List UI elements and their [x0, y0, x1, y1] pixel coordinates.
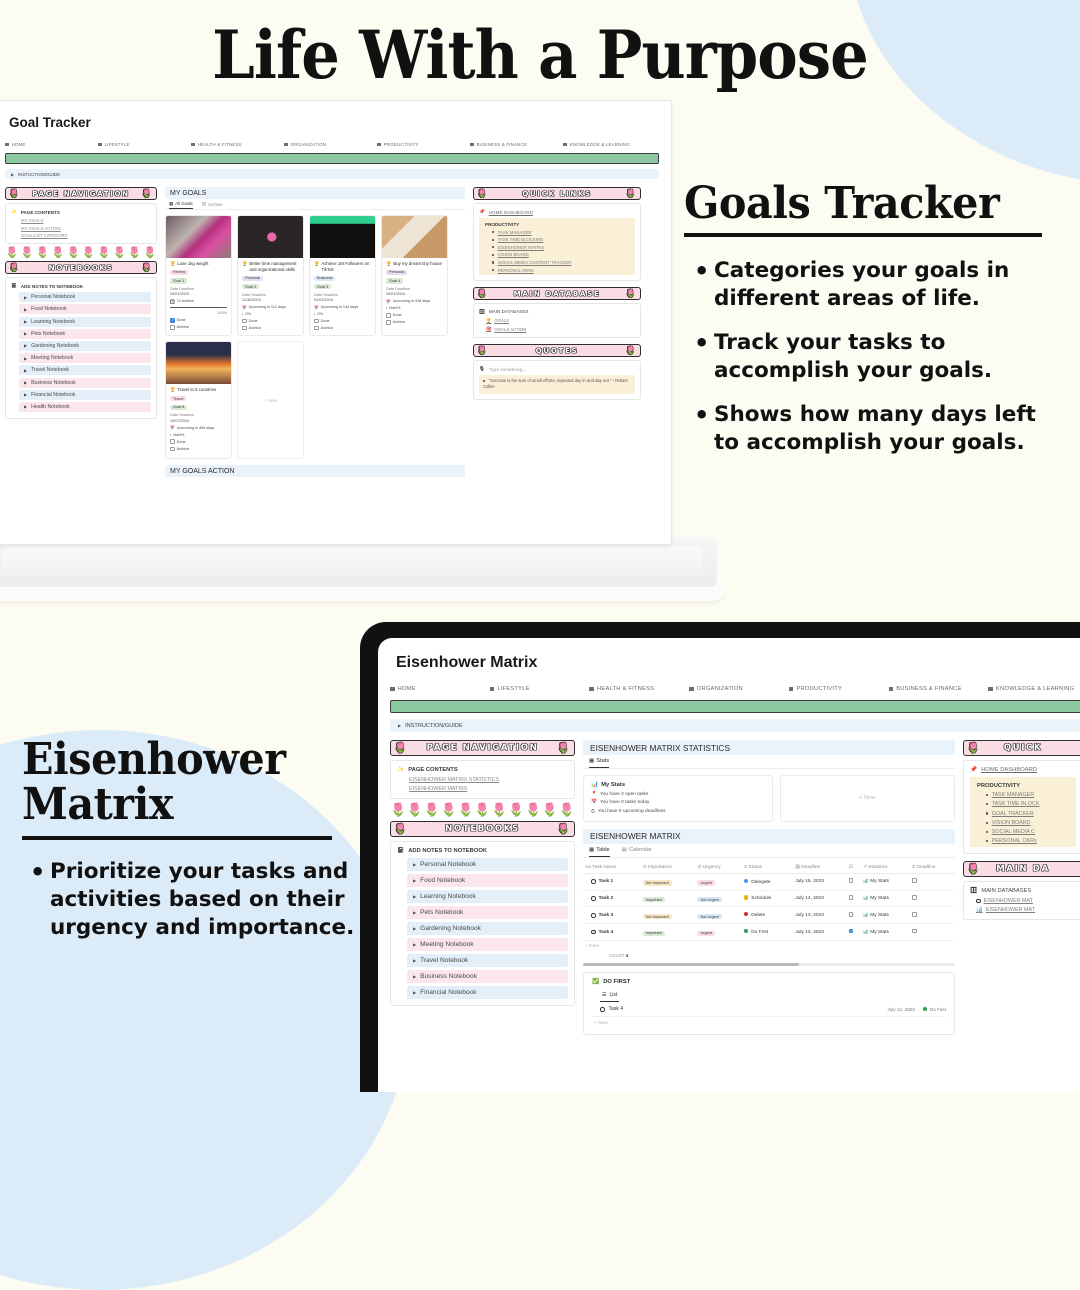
top-navigation[interactable]: HOME LIFESTYLE HEALTH & FITNESS ORGANIZA… [5, 142, 659, 147]
main-db-link-matrix-stats[interactable]: 📊EISENHOWER MAT [976, 907, 1076, 913]
page-title: Life With a Purpose [43, 16, 1037, 94]
col-deadline-2[interactable]: Σ Deadline [910, 862, 955, 874]
banner-label: QUICK LINKS [522, 189, 592, 198]
tablet-mockup: Eisenhower Matrix HOME LIFESTYLE HEALTH … [360, 622, 1080, 1092]
goal-archive-row[interactable]: Archive [170, 325, 227, 330]
col-checkbox[interactable]: ☑ [847, 862, 861, 874]
goal-done-row[interactable]: Done [170, 439, 227, 444]
task-ring-icon [600, 1007, 605, 1012]
check-circle-icon: ✅ [592, 979, 599, 985]
notebook-label: Meeting Notebook [31, 355, 73, 361]
col-status[interactable]: Σ Status [742, 862, 793, 874]
goal-category-tag: Personal [386, 270, 407, 275]
goal-countdown: Upcoming in 144 days [321, 305, 359, 309]
goals-pitch-bullet: Shows how many days left to accomplish y… [714, 401, 1062, 456]
archive-label: Archive [321, 326, 334, 330]
my-goals-section-title: MY GOALS [165, 187, 465, 199]
nav-item-home[interactable]: HOME [5, 142, 98, 147]
checkbox-cell[interactable] [847, 924, 861, 941]
notebook-item-food[interactable]: ▶Food Notebook [19, 304, 151, 314]
tab-table[interactable]: ▦Table [589, 844, 610, 857]
do-first-title: DO FIRST [603, 979, 630, 985]
nav-item-productivity[interactable]: PRODUCTIVITY [377, 142, 470, 147]
archive-label: Archive [177, 325, 190, 329]
quick-link-task-manager[interactable]: TASK MANAGER [492, 230, 631, 235]
goal-image-remote-control [310, 216, 375, 258]
main-db-link-goals[interactable]: 🏆GOALS [486, 318, 635, 324]
done-label: Done [321, 319, 330, 323]
nav-label: HOME [398, 686, 416, 692]
sparkle-icon: ✨ [397, 767, 404, 773]
deadline2-cell[interactable] [910, 873, 955, 890]
my-stats-label: My Stats [601, 782, 625, 788]
table-row[interactable]: Task 2 Important Not Urgent Schedule Jul… [583, 890, 955, 907]
goal-done-row[interactable]: Done [242, 319, 299, 324]
main-database-banner: 🌷 MAIN DATABASE 🌷 [473, 287, 641, 300]
banner-label: MAIN DATABASE [514, 289, 601, 298]
quick-link-personal-okrs[interactable]: PERSONAL OKRs [986, 838, 1071, 844]
goal-progress-label: NaN% [389, 306, 400, 310]
main-database-card: 🗄 MAIN DATABASES EISENHOWER MAT 📊EISENHO… [963, 881, 1080, 920]
new-stat-card-button[interactable]: + New [780, 775, 956, 822]
checkbox-cell[interactable] [847, 890, 861, 907]
done-label: Done [393, 313, 402, 317]
goal-progress-label: 0% [317, 312, 323, 316]
nav-label: BUSINESS & FINANCE [477, 142, 527, 147]
notebook-item-gardening[interactable]: ▶Gardening Notebook [19, 341, 151, 351]
archive-checkbox[interactable] [242, 326, 247, 331]
count-value: 4 [626, 953, 628, 958]
goal-archive-row[interactable]: Archive [242, 326, 299, 331]
importance-cell: Not Important [641, 873, 696, 890]
row-checkbox-2[interactable] [912, 895, 917, 900]
chevron-right-icon: ▶ [11, 172, 14, 177]
laptop-keyboard [2, 547, 702, 577]
statistics-cell[interactable]: 📊 My Stats [861, 873, 910, 890]
bar-chart-icon: 📊 [863, 913, 869, 918]
col-urgency[interactable]: ⊙ Urgency [695, 862, 742, 874]
archive-label: Archive [177, 447, 190, 451]
main-db-label: GOALS ACTION [494, 327, 526, 332]
page-contents-label: PAGE CONTENTS [408, 767, 458, 773]
notebook-item-meeting[interactable]: ▶Meeting Notebook [19, 353, 151, 363]
count-label: COUNT [609, 953, 625, 958]
task-name-cell: Task 3 [585, 913, 639, 918]
microphone-icon: 🎙 [479, 366, 485, 372]
nav-item-knowledge-learning[interactable]: KNOWLEDGE & LEARNING [988, 686, 1080, 692]
bar-chart-icon: 📊 [976, 907, 983, 913]
home-dashboard-row[interactable]: 📌 HOME DASHBOARD [479, 209, 635, 215]
notebooks-header-label: ADD NOTES TO NOTEBOOK [21, 284, 83, 289]
notebook-item-personal[interactable]: ▶Personal Notebook [19, 292, 151, 302]
notebook-item-pets[interactable]: ▶Pets Notebook [407, 906, 568, 919]
bullet-icon: • [242, 312, 243, 316]
laptop-mockup: Goal Tracker HOME LIFESTYLE HEALTH & FIT… [0, 100, 737, 660]
page-content-link-matrix[interactable]: EISENHOWER MATRIX [409, 786, 568, 792]
importance-cell: Important [641, 924, 696, 941]
goal-countdown-row: 📅Upcoming in 418 days [386, 299, 443, 304]
done-checkbox[interactable] [386, 313, 391, 318]
notebook-label: Personal Notebook [420, 861, 476, 868]
urgency-cell: Urgent [695, 924, 742, 941]
pin-icon: 📌 [970, 767, 977, 773]
bullet-icon: • [314, 312, 315, 316]
deadline2-cell[interactable] [910, 890, 955, 907]
main-db-label: EISENHOWER MAT [986, 907, 1035, 913]
col-deadline[interactable]: ▤ Deadline [793, 862, 846, 874]
goal-progress-label: 100% [170, 311, 227, 315]
row-checkbox-2[interactable] [912, 929, 917, 934]
home-dashboard-row[interactable]: 📌 HOME DASHBOARD [970, 767, 1076, 773]
nav-item-organization[interactable]: ORGANIZATION [284, 142, 377, 147]
nav-square-icon [5, 143, 9, 147]
deadline2-cell[interactable] [910, 907, 955, 924]
goal-done-row[interactable]: Done [386, 313, 443, 318]
quick-link-vision-board[interactable]: VISION BOARD [986, 820, 1071, 826]
quick-link-label: VISION BOARD [498, 252, 529, 257]
clock-icon: ⏱ [591, 809, 595, 815]
nav-item-knowledge-learning[interactable]: KNOWLEDGE & LEARNING [563, 142, 656, 147]
nav-item-business-finance[interactable]: BUSINESS & FINANCE [889, 686, 989, 692]
quick-link-label: VISION BOARD [992, 820, 1031, 826]
main-db-label: EISENHOWER MAT [984, 898, 1033, 904]
col-statistics[interactable]: ↗ Statistics [861, 862, 910, 874]
target-icon: 🎯 [486, 326, 491, 332]
notebook-item-food[interactable]: ▶Food Notebook [407, 874, 568, 887]
table-row[interactable]: Task 3 Not Important Not Urgent Delete J… [583, 907, 955, 924]
quote-input-row[interactable]: 🎙 Type something... [479, 366, 635, 372]
tulip-icon: 🌷 [141, 263, 153, 272]
nav-item-health-fitness[interactable]: HEALTH & FITNESS [589, 686, 689, 692]
deadline-cell: July 13, 2023 [793, 907, 846, 924]
chevron-right-icon: ▶ [413, 990, 416, 995]
bar-chart-icon: 📊 [863, 879, 869, 884]
page-content-link-my-goals[interactable]: MY GOALS [21, 218, 151, 223]
col-importance[interactable]: ⊙ Importance [641, 862, 696, 874]
row-count: COUNT 4 [583, 953, 955, 958]
notebook-label: Gardening Notebook [31, 343, 79, 349]
my-stats-card[interactable]: 📊My Stats 📍You have 2 open tasks 📅You ha… [583, 775, 773, 822]
page-contents-header: ✨ PAGE CONTENTS [11, 209, 151, 215]
nav-label: KNOWLEDGE & LEARNING [570, 142, 630, 147]
statistics-cell[interactable]: 📊 My Stats [861, 890, 910, 907]
stats-cards: 📊My Stats 📍You have 2 open tasks 📅You ha… [583, 775, 955, 822]
goal-card[interactable]: 🏆Lose 1kg weight Fitness Goal 1 Date Dea… [165, 215, 232, 336]
checkbox-cell[interactable] [847, 873, 861, 890]
notebooks-banner: 🌷 NOTEBOOKS 🌷 [5, 261, 157, 274]
quick-link-personal-okrs[interactable]: PERSONAL OKRs [492, 268, 631, 273]
quick-link-eisenhower-matrix[interactable]: EISENHOWER MATRIX [492, 245, 631, 250]
quick-link-label: PERSONAL OKRs [498, 268, 534, 273]
goal-card[interactable]: 🏆Buy my dream tiny house Personal Goal 4… [381, 215, 448, 336]
instruction-guide-toggle[interactable]: ▶ INSTUCTION/GUIDE [5, 169, 659, 179]
top-navigation[interactable]: HOME LIFESTYLE HEALTH & FITNESS ORGANIZA… [390, 686, 1080, 692]
goal-number-tag: Goal 3 [314, 284, 331, 289]
row-checkbox-2[interactable] [912, 878, 917, 883]
nav-label: HEALTH & FITNESS [597, 686, 654, 692]
done-checkbox[interactable] [170, 318, 175, 323]
bullet-square-icon [492, 239, 494, 241]
chevron-right-icon: ▶ [413, 926, 416, 931]
tulip-icon: 🌷 [477, 346, 489, 355]
notebook-item-meeting[interactable]: ▶Meeting Notebook [407, 938, 568, 951]
notebook-item-gardening[interactable]: ▶Gardening Notebook [407, 922, 568, 935]
goal-countdown-row: 📅Upcoming in 465 days [170, 425, 227, 430]
quick-links-category: PRODUCTIVITY [485, 222, 631, 227]
stat-open-tasks: 📍You have 2 open tasks [591, 792, 765, 797]
do-first-task-name: Task 4 [609, 1006, 623, 1012]
eisen-pitch-heading-line2: Matrix [22, 783, 346, 828]
tulip-icon: 🌷 [9, 189, 21, 198]
quick-link-task-manager[interactable]: TASK MANAGER [986, 792, 1071, 798]
deadline-value: 12/07/2024 [170, 419, 227, 423]
quick-link-goal-tracker[interactable]: GOAL TRACKER [986, 811, 1071, 817]
quick-link-label: EISENHOWER MATRIX [498, 245, 544, 250]
page-contents-header: ✨ PAGE CONTENTS [397, 767, 568, 773]
new-goal-card-button[interactable]: + New [237, 341, 304, 459]
laptop-foot [0, 587, 726, 601]
tab-all-goals[interactable]: ▦All Goals [169, 199, 193, 209]
archive-checkbox[interactable] [170, 325, 175, 330]
tulip-icon: 🌷 [625, 346, 637, 355]
tulip-icon: 🌷 [394, 824, 408, 835]
notebook-item-health[interactable]: ▶Health Notebook [19, 402, 151, 412]
new-row-button[interactable]: + New [583, 941, 955, 952]
notebook-item-pets[interactable]: ▶Pets Notebook [19, 329, 151, 339]
instruction-guide-toggle[interactable]: ▶ INSTRUCTION/GUIDE [390, 719, 1080, 732]
page-content-link-goals-by-category[interactable]: GOALS BY CATEGORY [21, 233, 151, 238]
task-ring-icon [591, 896, 596, 901]
row-checkbox[interactable] [849, 929, 854, 934]
notebook-item-travel[interactable]: ▶Travel Notebook [407, 954, 568, 967]
goals-gallery: 🏆Lose 1kg weight Fitness Goal 1 Date Dea… [165, 215, 465, 459]
goal-card[interactable]: 🏆Travel to 5 countries Travel Goal 5 Dat… [165, 341, 232, 459]
nav-square-icon [191, 143, 195, 147]
nav-label: PRODUCTIVITY [796, 686, 842, 692]
tab-list[interactable]: ☰ List [600, 989, 619, 1002]
nav-item-business-finance[interactable]: BUSINESS & FINANCE [470, 142, 563, 147]
chevron-right-icon: ▶ [398, 723, 401, 728]
matrix-section-title: EISENHOWER MATRIX [583, 829, 955, 844]
tab-archive[interactable]: ▤Archive [202, 201, 223, 207]
do-first-deadline: July 12, 2023 [887, 1007, 914, 1012]
tab-label: List [609, 992, 617, 998]
chevron-right-icon: ▶ [413, 958, 416, 963]
chevron-right-icon: ▶ [413, 910, 416, 915]
goal-number-tag: Goal 1 [170, 278, 187, 283]
nav-square-icon [284, 143, 288, 147]
notebooks-card: 📓 ADD NOTES TO NOTEBOOK ▶Personal Notebo… [390, 841, 575, 1006]
statistics-cell[interactable]: 📊 My Stats [861, 907, 910, 924]
goal-card[interactable]: 🏆Achieve 1M Followers on TikTok Business… [309, 215, 376, 336]
goal-status-row: 🔲To Archive [170, 299, 227, 304]
quick-link-vision-board[interactable]: VISION BOARD [492, 252, 631, 257]
goal-name-row: 🏆Achieve 1M Followers on TikTok [314, 261, 371, 273]
done-checkbox[interactable] [170, 439, 175, 444]
quick-link-social-media-content-tracker[interactable]: SOCIAL MEDIA CONTENT TRACKER [492, 260, 631, 265]
nav-square-icon [789, 687, 794, 692]
banner-label: PAGE NAVIGATION [32, 189, 129, 198]
row-checkbox-2[interactable] [912, 912, 917, 917]
deadline2-cell[interactable] [910, 924, 955, 941]
instruction-guide-label: INSTUCTION/GUIDE [18, 172, 60, 177]
goal-archive-row[interactable]: Archive [314, 326, 371, 331]
notebook-item-learning[interactable]: ▶Learning Notebook [19, 317, 151, 327]
do-first-new-button[interactable]: + New [592, 1017, 946, 1028]
goal-done-row[interactable]: Done [314, 319, 371, 324]
quick-links-banner: 🌷 QUICK LINKS 🌷 [473, 187, 641, 200]
table-row[interactable]: Task 4 Important Urgent Do First July 12… [583, 924, 955, 941]
goal-name-row: 🏆Better time management and organization… [242, 261, 299, 273]
deadline-label: Date Deadline [170, 413, 227, 417]
bullet-square-icon [492, 231, 494, 233]
bullet-square-icon [492, 261, 494, 263]
bar-chart-icon: 📊 [863, 896, 869, 901]
goal-done-row[interactable]: Done [170, 318, 227, 323]
tulip-icon: 🌷 [557, 824, 571, 835]
chevron-right-icon: ▶ [24, 307, 27, 312]
archive-checkbox[interactable] [170, 447, 175, 452]
quick-link-label: TASK MANAGER [498, 230, 532, 235]
tulip-icon: 🌷 [625, 289, 637, 298]
statistics-cell[interactable]: 📊 My Stats [861, 924, 910, 941]
goal-progress-row: •NaN% [170, 433, 227, 437]
goals-pitch-bullet: Categories your goals in different areas… [714, 257, 1062, 312]
nav-item-organization[interactable]: ORGANIZATION [689, 686, 789, 692]
notebook-label: Financial Notebook [31, 392, 75, 398]
tulip-divider: 🌷🌷🌷🌷🌷 🌷🌷🌷🌷🌷 [5, 246, 157, 259]
main-db-label: GOALS [494, 318, 509, 323]
quick-link-label: PERSONAL OKRs [992, 838, 1037, 844]
quick-link-task-time-blocking[interactable]: TASK TIME BLOCK [986, 801, 1071, 807]
col-task-name[interactable]: Aa Task Name [583, 862, 641, 874]
archive-label: Archive [393, 320, 406, 324]
deadline-value: 05/01/2023 [170, 292, 227, 296]
goal-category-tag: Personal [242, 276, 263, 281]
banner-label: PAGE NAVIGATION [427, 743, 539, 753]
goal-countdown: Upcoming in 465 days [177, 426, 215, 430]
tablet-screen: Eisenhower Matrix HOME LIFESTYLE HEALTH … [378, 638, 1080, 1092]
archive-checkbox[interactable] [314, 326, 319, 331]
nav-label: LIFESTYLE [105, 142, 130, 147]
page-navigation-banner: 🌷 PAGE NAVIGATION 🌷 [5, 187, 157, 200]
goals-pitch-rule [684, 233, 1042, 237]
goals-tracker-pitch: Goals Tracker Categories your goals in d… [684, 178, 1062, 473]
nav-item-health-fitness[interactable]: HEALTH & FITNESS [191, 142, 284, 147]
row-checkbox[interactable] [849, 912, 854, 917]
notebook-item-business[interactable]: ▶Business Notebook [407, 970, 568, 983]
horizontal-scrollbar[interactable] [583, 963, 955, 966]
eisen-pitch-bullets: Prioritize your tasks and activities bas… [22, 858, 367, 942]
notebook-icon: 📓 [397, 848, 404, 854]
done-checkbox[interactable] [314, 319, 319, 324]
notebook-label: Learning Notebook [31, 319, 75, 325]
quotes-card: 🎙 Type something... "Success is the sum … [473, 360, 641, 400]
chevron-right-icon: ▶ [413, 878, 416, 883]
trophy-icon: 🏆 [486, 318, 491, 324]
goal-countdown: Upcoming in 418 days [393, 299, 431, 303]
nav-item-lifestyle[interactable]: LIFESTYLE [98, 142, 191, 147]
tab-calendar[interactable]: ▤Calendar [622, 847, 652, 853]
bullet-square-icon [986, 812, 988, 814]
goal-name: Buy my dream tiny house [393, 261, 441, 267]
checkbox-cell[interactable] [847, 907, 861, 924]
tulip-icon: 🌷 [625, 189, 637, 198]
goal-archive-row[interactable]: Archive [386, 320, 443, 325]
eisen-pitch-rule [22, 836, 332, 840]
nav-item-lifestyle[interactable]: LIFESTYLE [490, 686, 590, 692]
do-first-row[interactable]: Task 4 July 12, 2023 Do First [592, 1002, 946, 1017]
chevron-right-icon: ▶ [24, 295, 27, 300]
nav-label: LIFESTYLE [497, 686, 529, 692]
main-db-link-matrix[interactable]: EISENHOWER MAT [976, 898, 1076, 904]
goal-card[interactable]: 🏆Better time management and organization… [237, 215, 304, 336]
row-checkbox[interactable] [849, 878, 854, 883]
goal-name: Lose 1kg weight [177, 261, 208, 267]
main-db-link-goals-action[interactable]: 🎯GOALS ACTION [486, 326, 635, 332]
notebook-item-financial[interactable]: ▶Financial Notebook [19, 390, 151, 400]
page-navigation-banner: 🌷 PAGE NAVIGATION 🌷 [390, 740, 575, 756]
nav-square-icon [98, 143, 102, 147]
nav-item-productivity[interactable]: PRODUCTIVITY [789, 686, 889, 692]
chevron-right-icon: ▶ [24, 331, 27, 336]
stats-view-tabs[interactable]: ▦Stats [583, 755, 955, 769]
status-cell: Schedule [742, 890, 793, 907]
quick-link-social-media[interactable]: SOCIAL MEDIA C [986, 829, 1071, 835]
goal-category-tag: Travel [170, 396, 186, 401]
row-checkbox[interactable] [849, 895, 854, 900]
notebook-label: Financial Notebook [420, 989, 476, 996]
page-contents-card: ✨ PAGE CONTENTS EISENHOWER MATRIX STATIS… [390, 760, 575, 799]
notebook-item-financial[interactable]: ▶Financial Notebook [407, 986, 568, 999]
page-contents-label: PAGE CONTENTS [21, 210, 60, 215]
goal-number-tag: Goal 2 [242, 284, 259, 289]
tulip-icon: 🌷 [477, 289, 489, 298]
nav-item-home[interactable]: HOME [390, 686, 490, 692]
nav-label: ORGANIZATION [697, 686, 743, 692]
do-first-meta: July 12, 2023 Do First [887, 1007, 946, 1012]
page-content-link-statistics[interactable]: EISENHOWER MATRIX STATISTICS [409, 777, 568, 783]
banner-label: QUOTES [536, 346, 579, 355]
tab-stats[interactable]: ▦Stats [589, 755, 609, 768]
done-checkbox[interactable] [242, 319, 247, 324]
notebook-item-business[interactable]: ▶Business Notebook [19, 378, 151, 388]
my-stats-header: 📊My Stats [591, 782, 765, 788]
notebooks-header: 📓 ADD NOTES TO NOTEBOOK [397, 848, 568, 854]
calendar-icon: 📅 [170, 425, 175, 430]
calendar-icon: 📅 [314, 305, 319, 310]
quick-link-task-time-blocking[interactable]: TASK TIME BLOCKING [492, 237, 631, 242]
notebooks-header-label: ADD NOTES TO NOTEBOOK [408, 848, 487, 854]
my-goals-view-tabs[interactable]: ▦All Goals ▤Archive [165, 199, 465, 210]
statistics-section-title: EISENHOWER MATRIX STATISTICS [583, 740, 955, 755]
notebook-item-travel[interactable]: ▶Travel Notebook [19, 365, 151, 375]
table-row[interactable]: Task 1 Not Important Urgent Delegate Jul… [583, 873, 955, 890]
notebook-item-personal[interactable]: ▶Personal Notebook [407, 858, 568, 871]
table-header-row: Aa Task Name ⊙ Importance ⊙ Urgency Σ St… [583, 862, 955, 874]
task-ring-icon [591, 879, 596, 884]
matrix-view-tabs[interactable]: ▦Table ▤Calendar [583, 844, 955, 858]
page-content-link-my-goals-action[interactable]: MY GOALS ACTION [21, 226, 151, 231]
nav-label: HEALTH & FITNESS [198, 142, 242, 147]
main-databases-label: MAIN DATABASES [981, 888, 1031, 894]
quotes-banner: 🌷 QUOTES 🌷 [473, 344, 641, 357]
goal-name: Achieve 1M Followers on TikTok [321, 261, 371, 273]
quick-links-category: PRODUCTIVITY [977, 783, 1071, 789]
notebook-item-learning[interactable]: ▶Learning Notebook [407, 890, 568, 903]
archive-checkbox[interactable] [386, 320, 391, 325]
goal-archive-row[interactable]: Archive [170, 447, 227, 452]
